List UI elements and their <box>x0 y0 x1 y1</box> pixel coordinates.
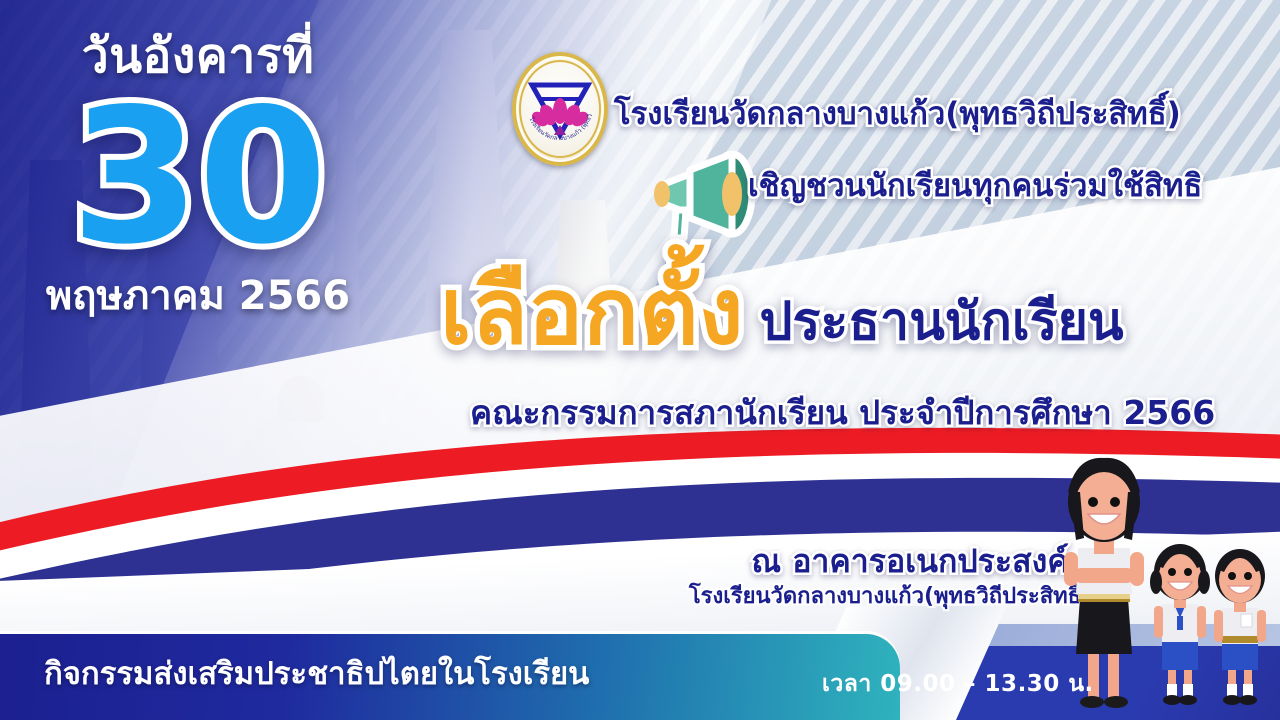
boy-student-figure <box>1214 549 1266 705</box>
school-name-heading: โรงเรียนวัดกลางบางแก้ว(พุทธวิถีประสิทธิ์… <box>614 88 1274 138</box>
headline-caption: คณะกรรมการสภานักเรียน ประจำปีการศึกษา 25… <box>470 386 1270 439</box>
venue-school: โรงเรียนวัดกลางบางแก้ว(พุทธวิถีประสิทธิ์… <box>680 578 1100 613</box>
time-text: เวลา 09.00 – 13.30 น. <box>822 666 1094 702</box>
headline-row: เลือกตั้ง ประธานนักเรียน <box>440 266 1280 358</box>
headline-main: เลือกตั้ง <box>440 266 743 358</box>
school-crest-logo: โรงเรียนวัดกลางบางแก้ว (พุทธวิถีประสิทธิ… <box>512 52 608 166</box>
headline-sub: ประธานนักเรียน <box>759 296 1123 358</box>
election-poster: วันอังคารที่ 30 พฤษภาคม 2566 โรงเรียนวัด… <box>0 0 1280 720</box>
megaphone-icon <box>646 140 764 250</box>
girl-student-figure <box>1150 544 1210 705</box>
day-number: 30 <box>28 88 368 267</box>
date-block: วันอังคารที่ 30 พฤษภาคม 2566 <box>28 18 368 327</box>
invitation-text: เชิญชวนนักเรียนทุกคนร่วมใช้สิทธิ <box>748 160 1280 210</box>
activity-text: กิจกรรมส่งเสริมประชาธิปไตยในโรงเรียน <box>44 648 589 698</box>
